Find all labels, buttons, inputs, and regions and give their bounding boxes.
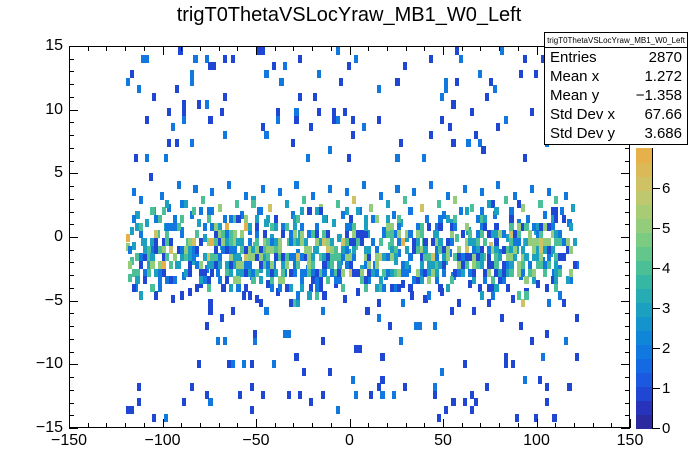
heatmap-cell (294, 353, 298, 361)
heatmap-cell (332, 219, 336, 227)
heatmap-cell (160, 192, 164, 200)
x-axis-tick (163, 46, 164, 55)
heatmap-cell (180, 291, 184, 299)
heatmap-cell (300, 207, 304, 215)
heatmap-cell (300, 223, 304, 231)
heatmap-cell (328, 185, 332, 193)
heatmap-cell (470, 406, 474, 414)
heatmap-cell (223, 93, 227, 101)
heatmap-cell (380, 391, 384, 399)
heatmap-cell (543, 269, 547, 277)
x-axis-tick (312, 46, 313, 51)
heatmap-cell (414, 322, 418, 330)
y-axis-tick (69, 313, 74, 314)
heatmap-cell (322, 215, 326, 223)
heatmap-cell (547, 188, 551, 196)
heatmap-cell (554, 196, 558, 204)
heatmap-cell (182, 398, 186, 406)
heatmap-cell (319, 276, 323, 284)
heatmap-cell (278, 238, 282, 246)
heatmap-cell (463, 185, 467, 193)
heatmap-cell (231, 55, 235, 63)
x-axis-tick (181, 46, 182, 51)
y-axis-tick-label: 10 (19, 101, 63, 119)
heatmap-cell (220, 314, 224, 322)
heatmap-cell (429, 181, 433, 189)
heatmap-cell (500, 314, 504, 322)
heatmap-cell (180, 215, 184, 223)
heatmap-cell (336, 47, 340, 55)
y-axis-tick-label: −15 (19, 419, 63, 437)
heatmap-cell (457, 299, 461, 307)
heatmap-cell (287, 330, 291, 338)
heatmap-cell (251, 276, 255, 284)
heatmap-cell (427, 276, 431, 284)
heatmap-cell (242, 360, 246, 368)
x-axis-tick (256, 46, 257, 55)
heatmap-cell (362, 123, 366, 131)
y-axis-tick (69, 161, 74, 162)
y-axis-tick (69, 199, 74, 200)
heatmap-cell (264, 70, 268, 78)
heatmap-cell (261, 123, 265, 131)
x-axis-tick (200, 46, 201, 51)
heatmap-cell (558, 291, 562, 299)
heatmap-cell (293, 269, 297, 277)
heatmap-cell (201, 196, 205, 204)
color-bar-band (636, 260, 652, 275)
x-axis-tick-label: 0 (320, 432, 380, 450)
heatmap-cell (197, 100, 201, 108)
color-bar-band (636, 148, 652, 163)
heatmap-cell (427, 223, 431, 231)
heatmap-cell (164, 154, 168, 162)
heatmap-cell (418, 322, 422, 330)
heatmap-cell (375, 215, 379, 223)
heatmap-cell (158, 284, 162, 292)
y-axis-tick (625, 224, 630, 225)
y-axis-tick (69, 377, 74, 378)
heatmap-cell (494, 238, 498, 246)
heatmap-cell (139, 223, 143, 231)
heatmap-cell (545, 383, 549, 391)
heatmap-cell (498, 276, 502, 284)
heatmap-cell (545, 398, 549, 406)
heatmap-cell (274, 223, 278, 231)
stats-box-title: trigT0ThetaVSLocYraw_MB1_W0_Left (545, 33, 687, 48)
heatmap-cell (227, 360, 231, 368)
heatmap-cell (149, 173, 153, 181)
heatmap-cell (511, 295, 515, 303)
y-axis-tick-label: −10 (19, 355, 63, 373)
heatmap-cell (240, 230, 244, 238)
heatmap-cell (545, 284, 549, 292)
heatmap-cell (255, 223, 259, 231)
heatmap-cell (190, 78, 194, 86)
heatmap-cell (137, 383, 141, 391)
heatmap-cell (229, 284, 233, 292)
heatmap-cell (336, 200, 340, 208)
color-bar-tick (652, 388, 660, 389)
heatmap-cell (171, 295, 175, 303)
color-bar-tick-label: 5 (662, 221, 670, 236)
heatmap-cell (433, 322, 437, 330)
heatmap-cell (394, 253, 398, 261)
y-axis-tick (625, 199, 630, 200)
heatmap-cell (450, 238, 454, 246)
heatmap-cell (485, 383, 489, 391)
x-axis-tick-label: −100 (133, 432, 193, 450)
heatmap-cell (379, 192, 383, 200)
heatmap-cell (341, 284, 345, 292)
heatmap-cell (352, 246, 356, 254)
heatmap-cell (321, 337, 325, 345)
heatmap-cell (158, 215, 162, 223)
x-axis-tick (237, 46, 238, 51)
x-axis-tick (88, 46, 89, 51)
heatmap-cell (326, 276, 330, 284)
heatmap-cell (437, 200, 441, 208)
y-axis-tick (69, 97, 74, 98)
heatmap-cell (192, 207, 196, 215)
x-axis-tick (630, 419, 631, 428)
heatmap-cell (364, 230, 368, 238)
x-axis-tick (537, 46, 538, 55)
heatmap-cell (564, 192, 568, 200)
y-axis-tick (625, 313, 630, 314)
heatmap-cell (429, 131, 433, 139)
y-axis-tick (69, 71, 74, 72)
heatmap-cell (177, 181, 181, 189)
heatmap-cell (182, 108, 186, 116)
heatmap-cell (343, 108, 347, 116)
heatmap-cell (132, 242, 136, 250)
heatmap-cell (175, 85, 179, 93)
heatmap-cell (268, 204, 272, 212)
heatmap-cell (470, 108, 474, 116)
heatmap-cell (395, 78, 399, 86)
heatmap-cell (306, 154, 310, 162)
heatmap-cell (446, 192, 450, 200)
heatmap-cell (446, 253, 450, 261)
y-axis-tick-label: 0 (19, 228, 63, 246)
x-axis-tick (350, 46, 351, 55)
heatmap-cell (543, 211, 547, 219)
stats-key: Entries (550, 48, 597, 67)
x-axis-tick (387, 46, 388, 51)
heatmap-cell (298, 93, 302, 101)
heatmap-cell (487, 299, 491, 307)
color-bar (636, 148, 652, 428)
heatmap-cell (169, 238, 173, 246)
heatmap-cell (435, 269, 439, 277)
heatmap-cell (506, 284, 510, 292)
heatmap-cell (530, 337, 534, 345)
heatmap-cell (509, 269, 513, 277)
heatmap-cell (463, 360, 467, 368)
heatmap-cell (298, 55, 302, 63)
heatmap-cell (298, 391, 302, 399)
y-axis-tick (69, 122, 74, 123)
heatmap-cell (311, 192, 315, 200)
heatmap-cell (438, 223, 442, 231)
color-bar-band (636, 344, 652, 359)
heatmap-cell (420, 276, 424, 284)
heatmap-cell (480, 253, 484, 261)
heatmap-cell (354, 55, 358, 63)
heatmap-cell (354, 391, 358, 399)
y-axis-tick (69, 250, 74, 251)
heatmap-cell (558, 269, 562, 277)
heatmap-cell (302, 196, 306, 204)
heatmap-cell (474, 398, 478, 406)
heatmap-cell (504, 360, 508, 368)
heatmap-cell (336, 406, 340, 414)
heatmap-cell (171, 123, 175, 131)
heatmap-cell (264, 131, 268, 139)
color-bar-band (636, 176, 652, 191)
heatmap-cell (253, 337, 257, 345)
color-bar-tick (652, 428, 660, 429)
heatmap-cell (352, 253, 356, 261)
heatmap-cell (345, 223, 349, 231)
heatmap-cell (180, 230, 184, 238)
x-axis-tick (462, 46, 463, 51)
x-axis-tick (219, 423, 220, 428)
heatmap-cell (405, 261, 409, 269)
heatmap-cell (437, 414, 441, 422)
stats-row: Std Dev y3.686 (545, 124, 687, 143)
heatmap-cell (221, 284, 225, 292)
heatmap-cell (405, 269, 409, 277)
heatmap-cell (448, 123, 452, 131)
heatmap-cell (399, 139, 403, 147)
x-axis-tick-label: 150 (600, 432, 660, 450)
x-axis-tick (144, 423, 145, 428)
heatmap-cell (139, 196, 143, 204)
heatmap-cell (281, 230, 285, 238)
heatmap-cell (193, 185, 197, 193)
color-bar-tick-label: 4 (662, 261, 670, 276)
y-axis-tick (625, 250, 630, 251)
stats-value: 3.686 (644, 124, 682, 143)
heatmap-cell (154, 291, 158, 299)
heatmap-cell (566, 276, 570, 284)
heatmap-cell (481, 146, 485, 154)
heatmap-cell (218, 204, 222, 212)
color-bar-band (636, 400, 652, 415)
y-axis-tick (625, 262, 630, 263)
heatmap-cell (152, 414, 156, 422)
x-axis-tick (144, 46, 145, 51)
heatmap-cell (162, 207, 166, 215)
y-axis-tick (69, 262, 74, 263)
heatmap-cell (210, 207, 214, 215)
heatmap-cell (351, 116, 355, 124)
stats-rows: Entries2870Mean x1.272Mean y−1.358Std De… (545, 48, 687, 143)
heatmap-cell (296, 299, 300, 307)
y-axis-tick (625, 352, 630, 353)
heatmap-cell (188, 269, 192, 277)
heatmap-cell (147, 269, 151, 277)
heatmap-cell (134, 154, 138, 162)
heatmap-cell (485, 93, 489, 101)
heatmap-cell (444, 406, 448, 414)
y-axis-tick (69, 428, 78, 429)
heatmap-cell (545, 330, 549, 338)
heatmap-cell (145, 55, 149, 63)
heatmap-cell (270, 284, 274, 292)
heatmap-cell (126, 78, 130, 86)
heatmap-cell (397, 215, 401, 223)
x-axis-tick (69, 46, 70, 55)
heatmap-cell (291, 139, 295, 147)
heatmap-cell (562, 253, 566, 261)
heatmap-cell (184, 200, 188, 208)
heatmap-cell (126, 406, 130, 414)
heatmap-cell (530, 185, 534, 193)
heatmap-cell (216, 337, 220, 345)
x-axis-tick (368, 423, 369, 428)
heatmap-cell (494, 207, 498, 215)
heatmap-cell (446, 284, 450, 292)
heatmap-cell (321, 391, 325, 399)
x-axis-tick (69, 419, 70, 428)
stats-row: Entries2870 (545, 48, 687, 67)
color-bar-band (636, 274, 652, 289)
heatmap-cell (504, 116, 508, 124)
heatmap-cell (523, 154, 527, 162)
heatmap-cell (182, 100, 186, 108)
heatmap-cell (150, 284, 154, 292)
y-axis-tick (625, 186, 630, 187)
color-bar-band (636, 302, 652, 317)
heatmap-cell (135, 211, 139, 219)
heatmap-cell (152, 93, 156, 101)
heatmap-cell (365, 307, 369, 315)
heatmap-cell (534, 70, 538, 78)
heatmap-cell (455, 234, 459, 242)
heatmap-cell (519, 70, 523, 78)
heatmap-cell (408, 207, 412, 215)
heatmap-cell (356, 288, 360, 296)
heatmap-cell (197, 360, 201, 368)
heatmap-cell (205, 391, 209, 399)
heatmap-cell (205, 322, 209, 330)
heatmap-cell (336, 116, 340, 124)
y-axis-tick (69, 212, 74, 213)
stats-key: Std Dev x (550, 105, 615, 124)
heatmap-cell (442, 261, 446, 269)
heatmap-cell (444, 78, 448, 86)
heatmap-cell (296, 291, 300, 299)
heatmap-cell (440, 93, 444, 101)
heatmap-cell (364, 276, 368, 284)
y-axis-tick (69, 352, 74, 353)
heatmap-cell (569, 276, 573, 284)
heatmap-cell (137, 85, 141, 93)
y-axis-tick (69, 186, 74, 187)
heatmap-cell (259, 299, 263, 307)
heatmap-cell (547, 299, 551, 307)
color-bar-band (636, 288, 652, 303)
y-axis-tick (69, 46, 78, 47)
x-axis-tick (125, 46, 126, 51)
heatmap-cell (203, 223, 207, 231)
heatmap-cell (319, 284, 323, 292)
heatmap-cell (137, 398, 141, 406)
heatmap-cell (285, 200, 289, 208)
y-axis-tick (625, 288, 630, 289)
heatmap-cell (377, 116, 381, 124)
heatmap-cell (364, 284, 368, 292)
heatmap-cell (547, 261, 551, 269)
y-axis-tick-label: −5 (19, 292, 63, 310)
heatmap-cell (195, 284, 199, 292)
heatmap-cell (250, 383, 254, 391)
heatmap-cell (126, 234, 130, 242)
color-bar-tick-label: 2 (662, 341, 670, 356)
x-axis-tick (462, 423, 463, 428)
stats-value: 1.272 (644, 67, 682, 86)
x-axis-tick (181, 423, 182, 428)
heatmap-cell (438, 284, 442, 292)
color-bar-tick (652, 348, 660, 349)
color-bar-tick (652, 268, 660, 269)
x-axis-tick (219, 46, 220, 51)
heatmap-cell (377, 85, 381, 93)
heatmap-cell (480, 188, 484, 196)
heatmap-cell (392, 211, 396, 219)
x-axis-tick (368, 46, 369, 51)
heatmap-cell (571, 204, 575, 212)
heatmap-cell (369, 391, 373, 399)
heatmap-cell (562, 215, 566, 223)
heatmap-cell (278, 188, 282, 196)
heatmap-cell (524, 276, 528, 284)
heatmap-cell (343, 295, 347, 303)
heatmap-cell (408, 284, 412, 292)
x-axis-tick (424, 46, 425, 51)
heatmap-cell (145, 154, 149, 162)
x-axis-tick (237, 423, 238, 428)
y-axis-tick (621, 237, 630, 238)
heatmap-cell (379, 238, 383, 246)
heatmap-cell (208, 116, 212, 124)
color-bar-band (636, 358, 652, 373)
x-axis-tick (406, 423, 407, 428)
heatmap-cell (420, 223, 424, 231)
heatmap-cell (523, 376, 527, 384)
heatmap-cell (250, 360, 254, 368)
y-axis-tick (69, 148, 74, 149)
heatmap-cell (223, 55, 227, 63)
heatmap-cell (208, 398, 212, 406)
y-axis-tick (69, 403, 74, 404)
heatmap-cell (130, 70, 134, 78)
color-bar-band (636, 372, 652, 387)
x-axis-tick (275, 46, 276, 51)
heatmap-cell (412, 188, 416, 196)
heatmap-cell (132, 284, 136, 292)
heatmap-cell (538, 376, 542, 384)
y-axis-tick (69, 59, 74, 60)
heatmap-cell (446, 246, 450, 254)
x-axis-tick (574, 423, 575, 428)
heatmap-cell (322, 291, 326, 299)
heatmap-cell (261, 47, 265, 55)
x-axis-tick (518, 423, 519, 428)
